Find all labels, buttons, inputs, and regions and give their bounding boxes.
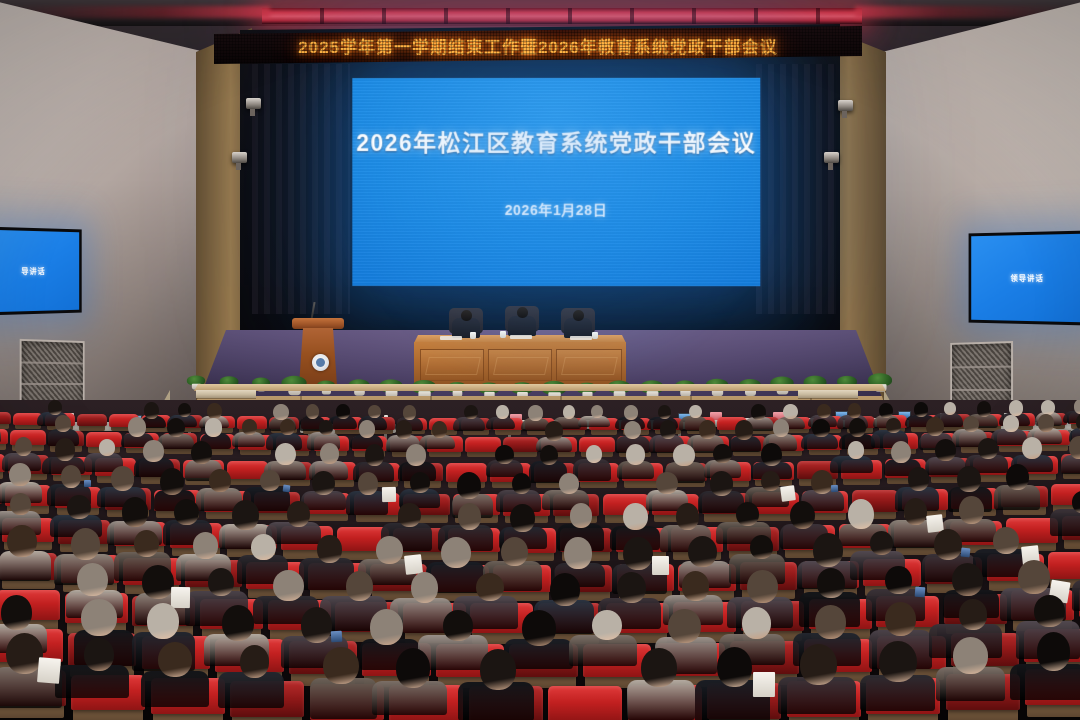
head: [934, 529, 962, 560]
water-cup: [592, 332, 598, 339]
head: [717, 647, 752, 687]
head: [1, 595, 32, 629]
head: [457, 472, 481, 498]
head: [167, 418, 185, 438]
head: [495, 445, 514, 464]
head: [926, 417, 944, 437]
torso: [564, 318, 592, 338]
head: [761, 443, 782, 466]
head: [660, 420, 676, 438]
head: [510, 504, 534, 532]
document-on-table: [510, 335, 532, 339]
head: [540, 445, 558, 465]
head: [122, 497, 149, 527]
head: [689, 405, 702, 419]
head: [464, 405, 478, 419]
head: [517, 307, 528, 318]
head: [885, 602, 916, 636]
head: [563, 405, 576, 419]
head: [963, 416, 979, 432]
head-table-panel: [420, 349, 484, 381]
shoulders: [830, 456, 872, 473]
mobile-phone: [960, 548, 970, 558]
head: [586, 445, 603, 463]
mobile-phone: [84, 480, 91, 487]
shoulders: [453, 417, 485, 431]
head: [128, 417, 146, 437]
screen-date-text: 2026年1月28日: [352, 200, 760, 220]
stage-curtain-right: [756, 64, 836, 314]
head: [134, 530, 159, 557]
head: [273, 404, 288, 420]
spotlight-fixture: [246, 98, 261, 109]
stage-apron-edge: [180, 384, 900, 391]
head: [144, 402, 159, 419]
head: [1018, 560, 1050, 594]
head: [84, 638, 114, 671]
monitor-left-text: 导讲话: [0, 266, 79, 277]
head: [750, 535, 774, 559]
audience-seat: [77, 414, 107, 426]
head: [742, 607, 771, 639]
head: [207, 403, 221, 419]
head: [71, 528, 100, 560]
head: [9, 463, 31, 486]
shoulders: [1050, 509, 1080, 535]
head: [783, 404, 798, 419]
head: [7, 525, 36, 557]
head: [1006, 464, 1029, 490]
head: [10, 493, 31, 515]
head: [870, 531, 893, 555]
head: [81, 599, 116, 636]
head: [287, 501, 309, 527]
head: [403, 405, 417, 420]
head: [959, 599, 987, 630]
head: [1038, 414, 1054, 431]
head: [699, 420, 715, 438]
head: [280, 419, 294, 435]
head: [848, 441, 865, 459]
head: [501, 537, 528, 566]
head: [848, 499, 874, 529]
head: [99, 439, 115, 456]
head: [275, 443, 296, 466]
head: [1034, 595, 1064, 627]
head: [476, 573, 504, 602]
head: [522, 610, 556, 646]
head: [935, 439, 956, 461]
head: [142, 565, 174, 599]
spotlight-fixture: [824, 152, 839, 163]
head: [676, 503, 699, 530]
head: [736, 502, 759, 527]
head: [320, 443, 339, 464]
head: [301, 607, 332, 642]
audience-area: [0, 400, 1080, 720]
head: [368, 405, 381, 418]
head: [993, 527, 1019, 554]
head: [158, 642, 192, 678]
head: [396, 420, 412, 438]
head: [959, 496, 984, 524]
head: [1041, 400, 1055, 415]
mobile-phone: [831, 484, 839, 491]
head: [811, 470, 833, 494]
head: [673, 444, 694, 466]
head: [242, 419, 257, 435]
head: [891, 441, 911, 464]
head: [886, 418, 901, 433]
head: [406, 444, 426, 465]
head: [1003, 415, 1018, 432]
head: [480, 649, 516, 689]
head: [977, 401, 991, 417]
head: [545, 421, 563, 441]
head: [15, 437, 33, 457]
head: [813, 533, 843, 566]
head: [323, 647, 359, 684]
head: [273, 570, 303, 602]
head: [957, 466, 981, 492]
handout-paper: [37, 657, 61, 684]
head: [370, 609, 404, 645]
led-cove-dots: [262, 8, 862, 24]
head: [952, 563, 983, 596]
plant-pot: [680, 390, 690, 397]
head: [573, 310, 584, 321]
mobile-phone: [282, 485, 290, 493]
head: [396, 648, 430, 688]
head: [77, 563, 108, 597]
head: [624, 421, 641, 439]
main-led-screen: 2026年松江区教育系统党政干部会议 2026年1月28日: [352, 78, 760, 286]
head: [160, 468, 184, 495]
handout-paper: [780, 485, 796, 502]
head: [222, 605, 254, 641]
head: [512, 473, 531, 495]
head: [191, 441, 212, 464]
head: [398, 503, 420, 527]
head: [193, 532, 219, 559]
head: [848, 403, 861, 418]
head-table-panel: [488, 349, 552, 381]
document-on-table: [570, 336, 592, 340]
head: [978, 438, 998, 459]
screen-title-text: 2026年松江区教育系统党政干部会议: [352, 124, 760, 158]
head: [55, 438, 75, 461]
head: [815, 605, 846, 638]
head: [817, 568, 846, 598]
head: [751, 404, 766, 419]
head-table-front-face: [414, 342, 626, 387]
head: [624, 405, 638, 420]
head-table: [414, 335, 626, 387]
head: [550, 573, 580, 606]
screen-scanlines: [352, 78, 760, 286]
handout-paper: [652, 556, 669, 575]
head: [592, 610, 622, 640]
audience-seat: [548, 686, 622, 720]
head: [773, 419, 789, 437]
head: [61, 465, 81, 488]
audience-seat: [0, 412, 11, 424]
head: [55, 415, 71, 432]
head: [358, 472, 379, 495]
head: [48, 400, 62, 414]
red-led-cove-strip: [262, 8, 862, 24]
head: [336, 404, 350, 419]
head: [143, 440, 164, 461]
head: [559, 473, 579, 494]
mobile-phone: [331, 630, 342, 642]
head: [790, 501, 815, 530]
head: [496, 405, 509, 419]
head: [617, 572, 646, 603]
monitor-right-text: 领导讲话: [971, 273, 1080, 284]
head: [879, 403, 893, 418]
head: [1069, 436, 1080, 459]
podium-top: [292, 318, 344, 329]
head: [432, 421, 447, 438]
head: [812, 419, 830, 437]
handout-paper: [171, 586, 190, 607]
head: [656, 472, 677, 495]
head: [208, 568, 235, 596]
head: [1009, 400, 1023, 415]
head: [178, 403, 191, 417]
head: [626, 444, 645, 464]
head: [458, 503, 481, 530]
side-monitor-left: 导讲话: [0, 226, 82, 315]
head: [317, 535, 341, 563]
shoulders: [1010, 664, 1080, 700]
head: [209, 469, 231, 492]
water-cup: [500, 331, 506, 338]
head: [410, 472, 430, 493]
head: [251, 534, 276, 560]
document-on-table: [440, 336, 462, 340]
head: [174, 499, 199, 525]
head: [944, 402, 957, 415]
head: [713, 444, 731, 464]
head: [346, 571, 373, 601]
podium-emblem-icon: [312, 354, 329, 371]
head: [817, 404, 831, 418]
side-monitor-right: 领导讲话: [969, 230, 1080, 325]
handout-paper: [926, 514, 943, 533]
head: [1037, 632, 1071, 671]
head: [641, 648, 677, 686]
mobile-phone: [915, 587, 926, 598]
spotlight-fixture: [838, 100, 853, 111]
head: [365, 444, 384, 466]
head: [735, 420, 752, 440]
head: [411, 572, 438, 603]
head: [688, 536, 717, 567]
head: [564, 537, 591, 569]
head-table-panel: [556, 349, 622, 381]
head: [761, 471, 780, 491]
head: [319, 420, 333, 435]
head: [240, 645, 270, 678]
head: [441, 537, 471, 568]
head: [312, 471, 335, 495]
shoulders: [1072, 580, 1080, 611]
head: [623, 537, 653, 571]
head: [800, 644, 837, 685]
head: [260, 470, 280, 491]
head: [953, 637, 988, 674]
head: [682, 571, 710, 600]
head: [528, 405, 543, 421]
head: [376, 536, 403, 564]
head: [205, 418, 223, 437]
handout-paper: [382, 486, 396, 501]
head: [232, 500, 259, 530]
head: [111, 466, 134, 491]
water-cup: [470, 332, 476, 339]
head: [908, 467, 929, 491]
head: [1022, 437, 1042, 459]
head: [668, 609, 700, 643]
head: [359, 420, 376, 438]
torso: [508, 316, 536, 336]
handout-paper: [753, 672, 775, 697]
head: [461, 310, 472, 321]
head: [710, 471, 733, 495]
auditorium-photo: 2026年松江区教育系统党政干部会议 2026年1月28日 2025学年第一学期…: [0, 0, 1080, 720]
head: [747, 570, 778, 603]
audience-seat: [1048, 552, 1080, 579]
head: [879, 641, 916, 682]
head: [885, 566, 911, 594]
audience-seat: [0, 429, 8, 444]
stage-curtain-left: [252, 64, 350, 314]
head: [623, 503, 647, 530]
head: [1074, 400, 1080, 414]
spotlight-fixture: [232, 152, 247, 163]
head: [67, 495, 90, 519]
head: [147, 603, 179, 639]
head: [443, 610, 473, 641]
head: [570, 503, 592, 528]
head: [904, 498, 928, 525]
